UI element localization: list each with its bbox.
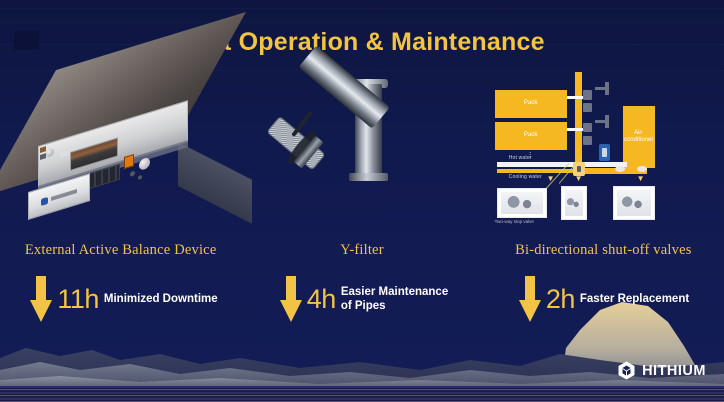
metric-y-filter: 4h Easier Maintenance of Pipes <box>244 276 484 322</box>
metric-label-line-1: Easier Maintenance <box>341 286 448 298</box>
valve-photo-thumbnail <box>497 188 547 218</box>
schematic-arrow-down-icon: ▼ <box>575 174 583 183</box>
schematic-pipe-cap <box>637 166 647 172</box>
background-band <box>0 8 724 9</box>
valve-photo-thumbnail <box>613 186 655 220</box>
down-arrow-icon <box>30 276 52 322</box>
valve-photo-thumbnail <box>561 186 587 220</box>
y-strainer-illustration <box>241 60 482 260</box>
metric-label-easier-maintenance: Easier Maintenance of Pipes <box>341 285 448 313</box>
schematic-blue-valve <box>599 144 610 161</box>
schematic-pipe-cap <box>615 166 625 172</box>
hexagon-cube-logo-icon <box>618 361 635 380</box>
product-visual-row: Pack Pack Air-conditioner ⋮ Hot water Co… <box>0 60 724 260</box>
brand-wordmark: HITHIUM <box>642 363 706 379</box>
caption-y-filter: Y-filter <box>241 242 482 259</box>
schematic-air-conditioner-box: Air-conditioner <box>623 106 655 168</box>
metric-label-minimized-downtime: Minimized Downtime <box>104 292 218 306</box>
schematic-cooling-water-label: Cooling water <box>509 174 542 180</box>
faceplate-logo-icon <box>41 197 48 206</box>
bottom-stripe-band <box>0 386 724 402</box>
schematic-hot-water-label: Hot water <box>509 155 532 161</box>
schematic-pack-box-1: Pack <box>495 90 567 118</box>
metric-label-faster-replacement: Faster Replacement <box>580 292 689 306</box>
rack-mount-balance-device-illustration <box>18 64 248 244</box>
product-visual-shutoff-valves: Pack Pack Air-conditioner ⋮ Hot water Co… <box>483 60 724 260</box>
schematic-valve-handle <box>605 82 609 95</box>
schematic-valve-handle <box>605 115 609 128</box>
schematic-valve-body <box>583 103 592 112</box>
product-visual-y-filter <box>241 60 482 260</box>
product-visual-balance-device <box>0 60 241 260</box>
down-arrow-icon <box>519 276 541 322</box>
schematic-arrow-down-icon: ▼ <box>637 174 645 183</box>
metric-value-11h: 11h <box>57 284 99 315</box>
background-band <box>0 22 724 23</box>
schematic-pack-box-2: Pack <box>495 122 567 150</box>
caption-shutoff-valves: Bi-directional shut-off valves <box>483 242 724 259</box>
metric-balance-device: 11h Minimized Downtime <box>0 276 244 322</box>
schematic-arrow-down-icon: ▼ <box>547 174 555 183</box>
schematic-valve-body <box>583 90 592 100</box>
metric-value-2h: 2h <box>546 284 575 315</box>
schematic-valve-body <box>583 136 592 145</box>
cooling-loop-schematic: Pack Pack Air-conditioner ⋮ Hot water Co… <box>489 70 695 240</box>
device-orange-connector <box>124 154 134 169</box>
valve-thumbnail-caption: Two-way stop valve <box>495 219 534 224</box>
metric-label-line-2: of Pipes <box>341 300 386 312</box>
schematic-valve-body <box>583 123 592 132</box>
schematic-hot-water-pipe <box>497 162 627 167</box>
filter-bottom-flange <box>349 173 388 181</box>
device-pin <box>138 175 142 180</box>
faceplate-wordmark <box>51 189 77 201</box>
metric-value-4h: 4h <box>307 284 336 315</box>
down-arrow-icon <box>280 276 302 322</box>
caption-balance-device: External Active Balance Device <box>0 242 241 259</box>
metric-row: 11h Minimized Downtime 4h Easier Mainten… <box>0 276 724 322</box>
device-pin <box>130 170 135 177</box>
brand-logo: HITHIUM <box>618 361 706 380</box>
slide-canvas: Fast Operation & Maintenance <box>0 0 724 402</box>
caption-row: External Active Balance Device Y-filter … <box>0 242 724 259</box>
metric-shutoff-valves: 2h Faster Replacement <box>484 276 724 322</box>
